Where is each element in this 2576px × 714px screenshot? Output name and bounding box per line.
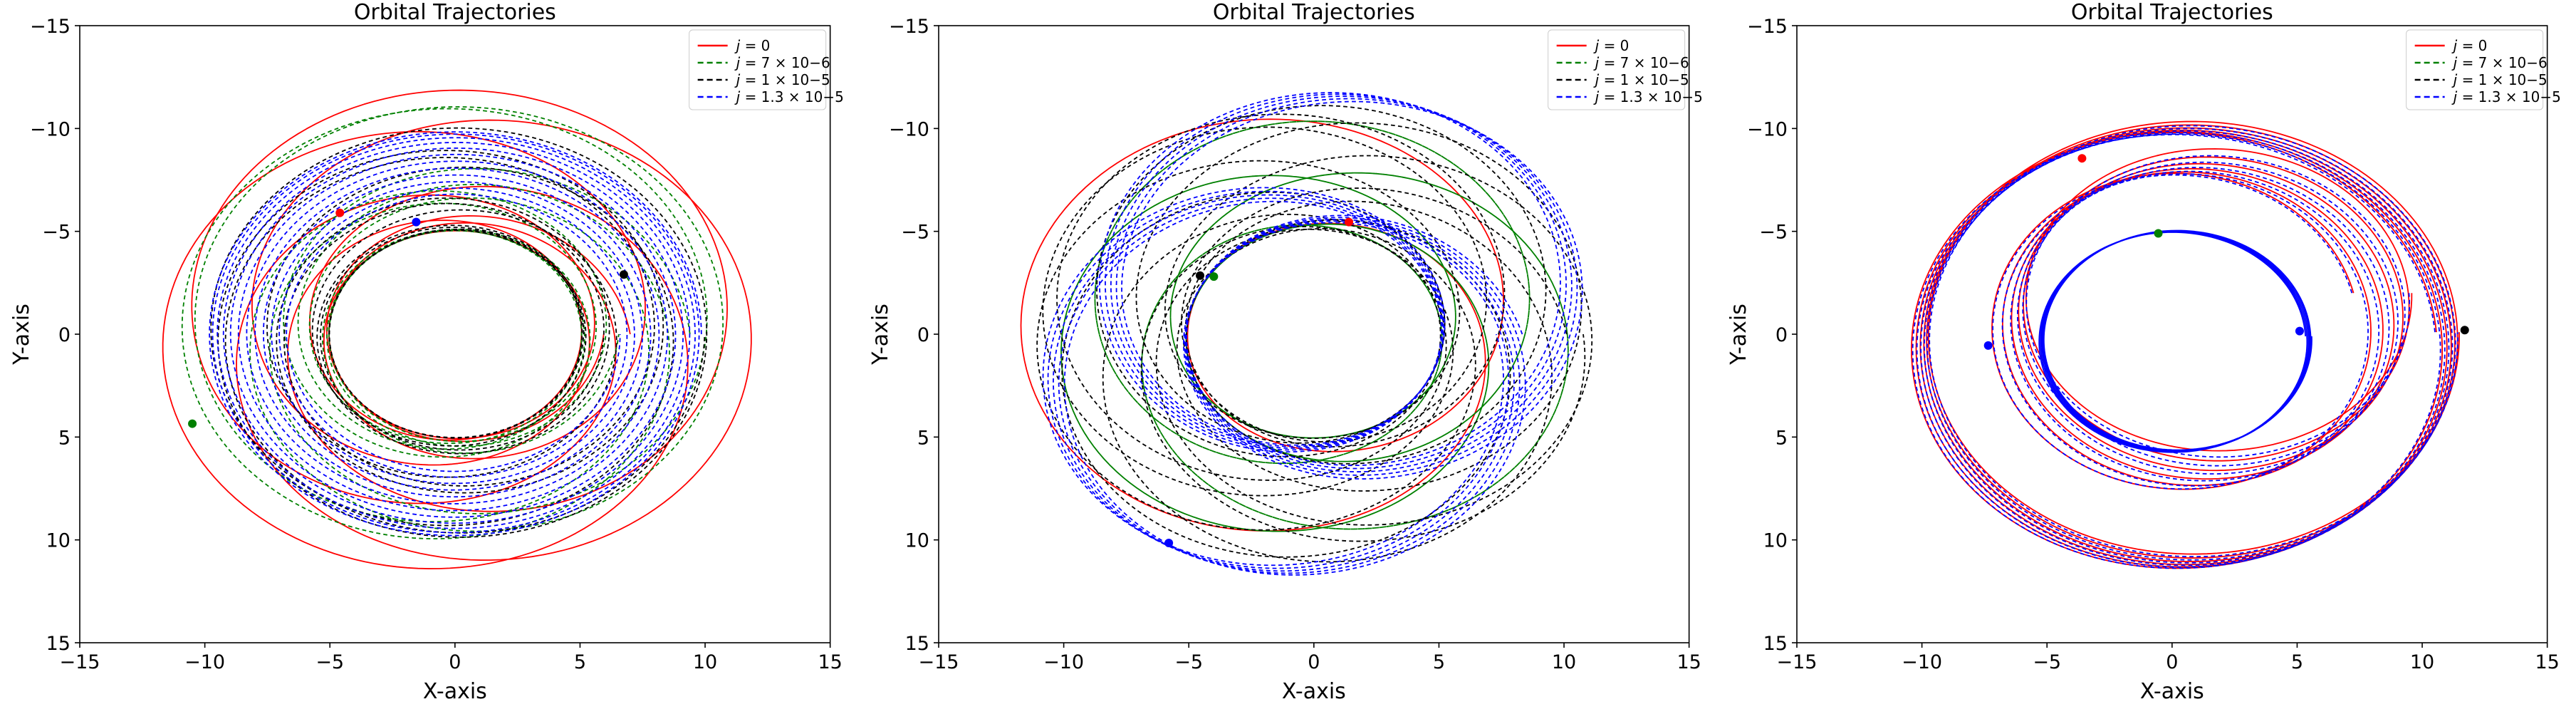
y-tick-label: 10 (904, 530, 929, 552)
y-tick-label: −5 (1760, 222, 1788, 244)
orbit-endpoint-marker (2461, 326, 2469, 334)
orbit-endpoint-marker (1196, 271, 1204, 280)
legend-label: j = 0 (2451, 37, 2488, 54)
plot-area-panel-2: Orbital Trajectories−15−10−5051015151050… (859, 0, 1718, 714)
orbit-endpoint-marker (620, 270, 628, 279)
y-tick-label: 15 (1763, 633, 1788, 655)
x-tick-label: 15 (2535, 651, 2560, 673)
orbit-endpoint-marker (335, 209, 344, 217)
legend-label: j = 7 × 10−6 (1592, 54, 1689, 71)
x-tick-label: −10 (1043, 651, 1084, 673)
plot-title: Orbital Trajectories (2071, 0, 2273, 25)
legend-label: j = 1 × 10−5 (734, 71, 830, 88)
legend-label: j = 7 × 10−6 (2451, 54, 2548, 71)
x-tick-label: 5 (2291, 651, 2303, 673)
orbit-endpoint-marker (2295, 327, 2304, 336)
plot-title: Orbital Trajectories (1212, 0, 1414, 25)
legend-label: j = 0 (1592, 37, 1629, 54)
legend: j = 0j = 7 × 10−6j = 1 × 10−5j = 1.3 × 1… (2406, 30, 2561, 110)
x-tick-label: −5 (1174, 651, 1203, 673)
x-axis-label: X-axis (1282, 679, 1346, 704)
legend: j = 0j = 7 × 10−6j = 1 × 10−5j = 1.3 × 1… (689, 30, 844, 110)
y-tick-label: 15 (46, 633, 71, 655)
y-tick-label: −5 (901, 222, 929, 244)
panel-3: Orbital Trajectories−15−10−5051015151050… (1717, 0, 2576, 714)
x-tick-label: 10 (1552, 651, 1576, 673)
y-tick-label: 5 (58, 427, 71, 449)
x-tick-label: 5 (574, 651, 586, 673)
y-tick-label: −10 (30, 118, 71, 140)
x-tick-label: 15 (818, 651, 842, 673)
y-tick-label: 0 (58, 324, 71, 346)
legend-label: j = 1 × 10−5 (2451, 71, 2548, 88)
orbit-endpoint-marker (2078, 154, 2087, 162)
x-tick-label: −10 (184, 651, 225, 673)
legend-label: j = 1.3 × 10−5 (2451, 88, 2561, 105)
plot-area-panel-1: Orbital Trajectories−15−10−5051015151050… (0, 0, 859, 714)
legend-label: j = 1.3 × 10−5 (1592, 88, 1702, 105)
y-tick-label: 5 (1775, 427, 1788, 449)
y-axis-label: Y-axis (868, 304, 893, 366)
y-tick-label: 10 (1763, 530, 1788, 552)
x-tick-label: 10 (693, 651, 717, 673)
legend-label: j = 1.3 × 10−5 (734, 88, 844, 105)
y-tick-label: 10 (46, 530, 71, 552)
y-tick-label: −15 (30, 16, 71, 38)
x-tick-label: 5 (1433, 651, 1445, 673)
x-tick-label: −5 (316, 651, 344, 673)
legend-label: j = 0 (734, 37, 771, 54)
y-tick-label: 0 (1775, 324, 1788, 346)
x-tick-label: 0 (449, 651, 461, 673)
y-tick-label: −10 (889, 118, 929, 140)
orbit-endpoint-marker (188, 420, 197, 428)
y-axis-label: Y-axis (1726, 304, 1751, 366)
x-axis-label: X-axis (423, 679, 487, 704)
plot-area-panel-3: Orbital Trajectories−15−10−5051015151050… (1717, 0, 2576, 714)
y-tick-label: 15 (904, 633, 929, 655)
y-tick-label: 0 (917, 324, 929, 346)
y-tick-label: −10 (1747, 118, 1788, 140)
orbit-endpoint-marker (1984, 341, 1993, 350)
legend: j = 0j = 7 × 10−6j = 1 × 10−5j = 1.3 × 1… (1548, 30, 1702, 110)
y-tick-label: −15 (889, 16, 929, 38)
legend-label: j = 1 × 10−5 (1592, 71, 1689, 88)
x-tick-label: 15 (1677, 651, 1701, 673)
panel-1: Orbital Trajectories−15−10−5051015151050… (0, 0, 859, 714)
orbit-endpoint-marker (1209, 272, 1218, 281)
orbit-endpoint-marker (2154, 229, 2163, 238)
orbital-trajectories-figure: Orbital Trajectories−15−10−5051015151050… (0, 0, 2576, 714)
legend-label: j = 7 × 10−6 (734, 54, 830, 71)
x-axis-label: X-axis (2140, 679, 2204, 704)
x-tick-label: −5 (2033, 651, 2062, 673)
x-tick-label: 10 (2410, 651, 2434, 673)
y-tick-label: −15 (1747, 16, 1788, 38)
orbit-endpoint-marker (412, 218, 420, 227)
x-tick-label: 0 (1308, 651, 1320, 673)
x-tick-label: 0 (2166, 651, 2179, 673)
orbit-endpoint-marker (1345, 218, 1353, 227)
orbit-endpoint-marker (1164, 539, 1173, 547)
y-tick-label: −5 (42, 222, 71, 244)
y-tick-label: 5 (917, 427, 929, 449)
panel-2: Orbital Trajectories−15−10−5051015151050… (859, 0, 1718, 714)
x-tick-label: −10 (1902, 651, 1942, 673)
plot-title: Orbital Trajectories (354, 0, 556, 25)
y-axis-label: Y-axis (9, 304, 34, 366)
